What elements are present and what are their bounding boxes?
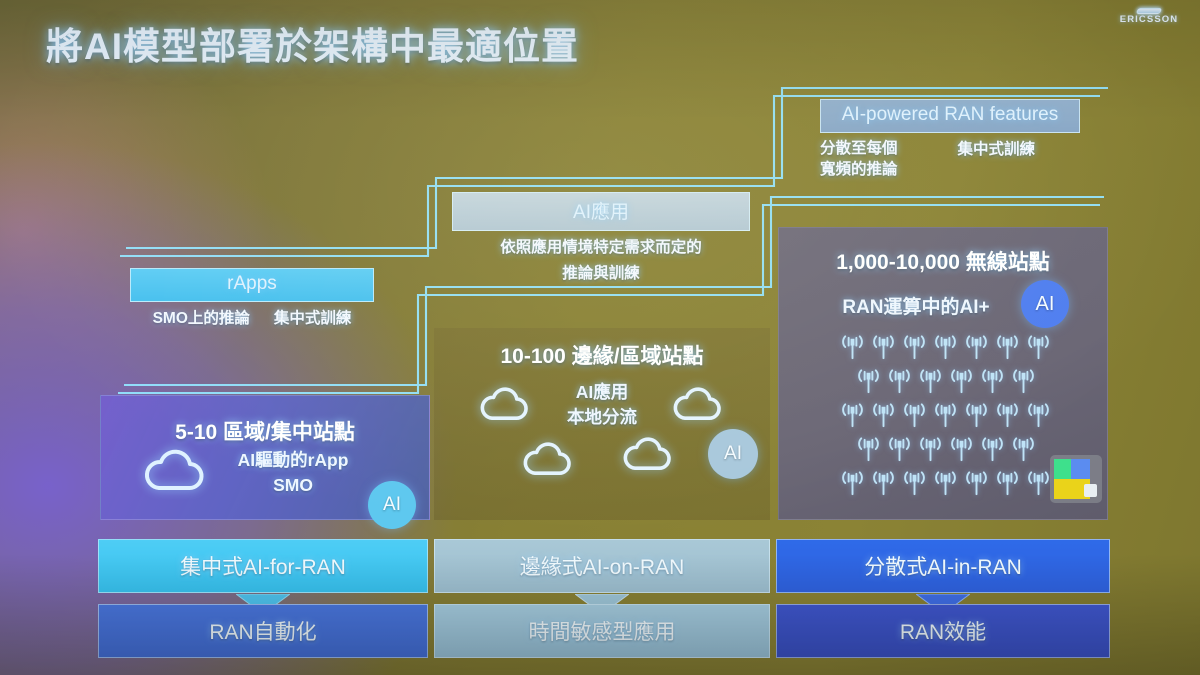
radio-tower-icon	[837, 332, 868, 363]
radio-tower-icon	[868, 400, 899, 431]
cloud-icon	[476, 383, 532, 423]
radio-tower-icon	[868, 332, 899, 363]
rapps-pill[interactable]: rApps	[130, 268, 374, 302]
partner-logo-green	[1054, 459, 1071, 479]
radio-tower-icon	[915, 366, 946, 397]
label-group-ai-applications: AI應用 依照應用情境特定需求而定的 推論與訓練	[452, 192, 750, 286]
radio-tower-icon	[977, 366, 1008, 397]
radio-tower-icon	[977, 434, 1008, 465]
radio-tower-icon	[992, 332, 1023, 363]
ai-applications-line1: 依照應用情境特定需求而定的	[452, 237, 750, 259]
page-title: 將AI模型部署於架構中最適位置	[46, 16, 579, 70]
radio-tower-icon	[853, 366, 884, 397]
tower-row	[838, 434, 1053, 465]
ai-powered-ran-sub-left-line1: 分散至每個	[820, 140, 898, 157]
panel-edge-regional-headline: 10-100 邊緣/區域站點	[434, 340, 770, 370]
radio-tower-icon	[899, 400, 930, 431]
tower-row	[838, 468, 1053, 499]
logo-bar-3	[1136, 8, 1162, 14]
radio-tower-grid	[838, 332, 1053, 502]
ai-applications-line2: 推論與訓練	[452, 263, 750, 285]
slide-canvas: 將AI模型部署於架構中最適位置 ERICSSON rApps SMO上的推論 集…	[0, 0, 1200, 675]
label-group-ai-powered-ran: AI-powered RAN features 分散至每個 寬頻的推論 集中式訓…	[820, 99, 1080, 181]
cloud-icon	[669, 383, 725, 423]
radio-tower-icon	[946, 366, 977, 397]
radio-tower-icon	[853, 434, 884, 465]
ai-badge-regional[interactable]: AI	[368, 481, 416, 529]
radio-tower-icon	[884, 366, 915, 397]
tower-row	[838, 400, 1053, 431]
radio-tower-icon	[930, 332, 961, 363]
ericsson-logo-icon: ERICSSON	[1114, 8, 1184, 25]
ai-applications-pill[interactable]: AI應用	[452, 192, 750, 231]
rapps-subtext: SMO上的推論 集中式訓練	[130, 308, 374, 330]
radio-tower-icon	[837, 400, 868, 431]
radio-tower-icon	[930, 468, 961, 499]
radio-tower-icon	[946, 434, 977, 465]
radio-tower-icon	[899, 468, 930, 499]
approach-cell-distributed[interactable]: 分散式AI-in-RAN	[776, 539, 1110, 593]
ai-powered-ran-sub-left-line2: 寬頻的推論	[820, 161, 898, 178]
outcome-cell-time-sensitive[interactable]: 時間敏感型應用	[434, 604, 770, 658]
partner-logo-blue	[1071, 459, 1090, 479]
radio-tower-icon	[868, 468, 899, 499]
ai-powered-ran-subtext: 分散至每個 寬頻的推論 集中式訓練	[820, 139, 1080, 181]
rapps-sub-right: 集中式訓練	[274, 308, 352, 330]
ai-powered-ran-sub-right: 集中式訓練	[958, 139, 1036, 181]
radio-tower-icon	[1008, 434, 1039, 465]
approach-cell-centralized[interactable]: 集中式AI-for-RAN	[98, 539, 428, 593]
radio-tower-icon	[961, 332, 992, 363]
approach-cell-edge[interactable]: 邊緣式AI-on-RAN	[434, 539, 770, 593]
panel-regional-central-headline: 5-10 區域/集中站點	[101, 416, 429, 446]
radio-tower-icon	[837, 468, 868, 499]
panel-edge-regional: 10-100 邊緣/區域站點 AI應用 本地分流	[434, 328, 770, 520]
ericsson-wordmark: ERICSSON	[1114, 14, 1184, 25]
radio-tower-icon	[992, 400, 1023, 431]
radio-tower-icon	[899, 332, 930, 363]
cloud-icon	[139, 444, 209, 494]
partner-logo-mark	[1084, 484, 1097, 497]
radio-tower-icon	[961, 468, 992, 499]
ai-badge-radio[interactable]: AI	[1021, 280, 1069, 328]
radio-tower-icon	[1023, 332, 1054, 363]
outcome-cell-ran-automation[interactable]: RAN自動化	[98, 604, 428, 658]
label-group-rapps: rApps SMO上的推論 集中式訓練	[130, 268, 374, 330]
radio-tower-icon	[992, 468, 1023, 499]
outcome-cell-ran-performance[interactable]: RAN效能	[776, 604, 1110, 658]
ai-badge-edge[interactable]: AI	[708, 429, 758, 479]
cloud-icon	[619, 433, 675, 473]
radio-tower-icon	[961, 400, 992, 431]
radio-tower-icon	[1023, 400, 1054, 431]
cloud-icon	[519, 438, 575, 478]
radio-tower-icon	[1008, 366, 1039, 397]
radio-tower-icon	[884, 434, 915, 465]
radio-tower-icon	[930, 400, 961, 431]
radio-tower-icon	[915, 434, 946, 465]
ai-powered-ran-sub-left: 分散至每個 寬頻的推論	[820, 139, 898, 181]
partner-logo-icon	[1050, 455, 1102, 503]
tower-row	[838, 332, 1053, 363]
ai-powered-ran-pill[interactable]: AI-powered RAN features	[820, 99, 1080, 133]
panel-radio-sites-headline: 1,000-10,000 無線站點	[779, 246, 1107, 276]
tower-row	[838, 366, 1053, 397]
rapps-sub-left: SMO上的推論	[153, 308, 250, 330]
